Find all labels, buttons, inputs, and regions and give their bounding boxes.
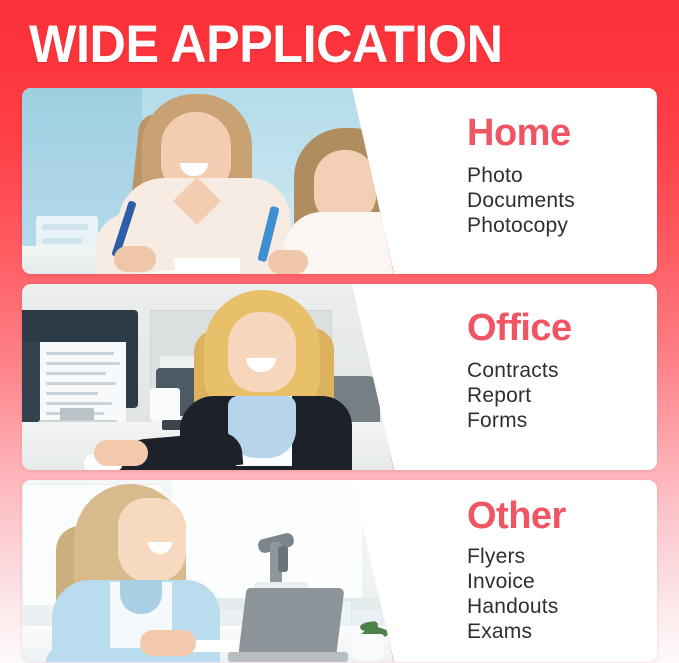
- card-photo-home: [22, 88, 394, 274]
- scene-home-illustration: [22, 88, 394, 274]
- screen-line: [46, 362, 120, 365]
- microscope-lens: [278, 546, 288, 572]
- card-text-panel-other: Other Flyers Invoice Handouts Exams: [412, 480, 657, 662]
- application-card-other[interactable]: Other Flyers Invoice Handouts Exams: [22, 480, 657, 662]
- woman-face: [228, 312, 296, 392]
- list-item: Forms: [467, 408, 657, 433]
- laptop-screen: [237, 588, 344, 662]
- woman-hand: [94, 440, 148, 466]
- card-list-office: Contracts Report Forms: [467, 358, 657, 433]
- monitor-shape: [22, 310, 138, 408]
- screen-line: [46, 382, 116, 385]
- plant-pot: [352, 634, 384, 660]
- scene-office-illustration: [22, 284, 394, 470]
- card-heading-office: Office: [467, 308, 657, 348]
- screen-line: [46, 352, 114, 355]
- screen-line: [46, 392, 98, 395]
- list-item: Handouts: [467, 594, 657, 619]
- list-item: Invoice: [467, 569, 657, 594]
- card-text-panel-office: Office Contracts Report Forms: [412, 284, 657, 470]
- page-title: WIDE APPLICATION: [29, 14, 618, 76]
- list-item: Photo: [467, 163, 657, 188]
- list-item: Documents: [467, 188, 657, 213]
- mother-hand: [114, 246, 156, 272]
- application-card-office[interactable]: Office Contracts Report Forms: [22, 284, 657, 470]
- scene-clinic-illustration: [22, 480, 394, 662]
- list-item: Photocopy: [467, 213, 657, 238]
- list-item: Flyers: [467, 544, 657, 569]
- list-item: Contracts: [467, 358, 657, 383]
- monitor-sidebar: [22, 342, 40, 428]
- card-photo-other: [22, 480, 394, 662]
- list-item: Exams: [467, 619, 657, 644]
- card-heading-other: Other: [467, 496, 657, 536]
- card-photo-office: [22, 284, 394, 470]
- card-list-home: Photo Documents Photocopy: [467, 163, 657, 238]
- coffee-cup: [150, 388, 180, 422]
- screen-line: [46, 372, 106, 375]
- card-list-other: Flyers Invoice Handouts Exams: [467, 544, 657, 644]
- woman-hands: [140, 630, 196, 656]
- card-heading-home: Home: [467, 113, 657, 153]
- card-text-panel-home: Home Photo Documents Photocopy: [412, 88, 657, 274]
- list-item: Report: [467, 383, 657, 408]
- daughter-hand: [268, 250, 308, 274]
- laptop-base: [228, 652, 348, 662]
- wide-application-poster: WIDE APPLICATION: [0, 0, 679, 663]
- screen-line: [46, 402, 112, 405]
- woman-face: [118, 498, 186, 582]
- application-card-home[interactable]: Home Photo Documents Photocopy: [22, 88, 657, 274]
